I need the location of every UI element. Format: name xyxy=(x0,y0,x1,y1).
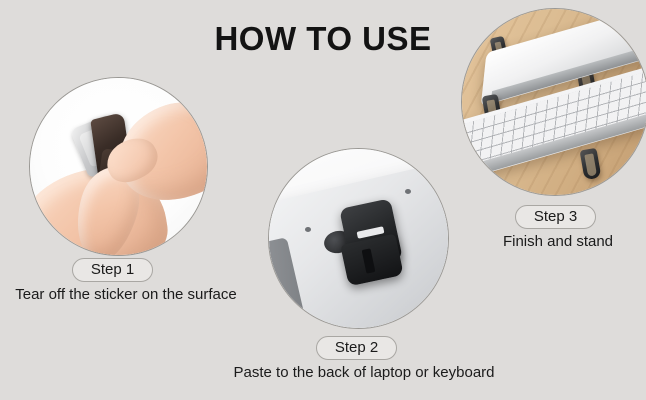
step-2-caption: Paste to the back of laptop or keyboard xyxy=(200,363,528,383)
laptop-screw xyxy=(305,227,311,232)
step-2-scene xyxy=(269,149,448,328)
step-1-photo xyxy=(29,77,208,256)
how-to-use-infographic: HOW TO USE Step 1 Tear off the sticker o… xyxy=(0,0,646,400)
step-3-badge: Step 3 xyxy=(515,205,596,229)
step-2-badge: Step 2 xyxy=(316,336,397,360)
step-3-caption: Finish and stand xyxy=(470,232,646,252)
step-1-caption: Tear off the sticker on the surface xyxy=(0,285,252,305)
step-1-badge: Step 1 xyxy=(72,258,153,282)
laptop-screw xyxy=(405,189,411,194)
step-2-photo xyxy=(268,148,449,329)
step-3-scene xyxy=(462,9,646,195)
step-3-photo xyxy=(461,8,646,196)
step-1-scene xyxy=(30,78,207,255)
